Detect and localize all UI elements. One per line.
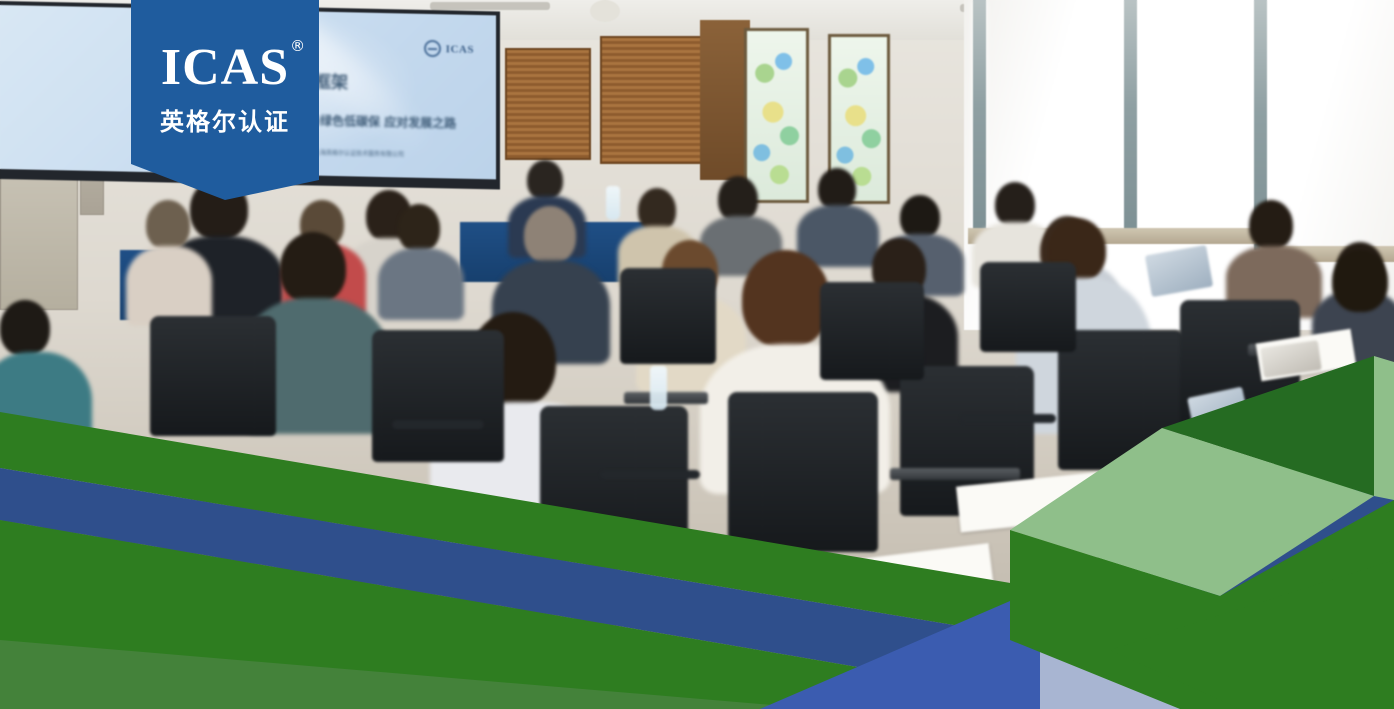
icas-wordmark: ICAS® <box>161 42 289 94</box>
banner-canvas: EXIT 框架 核算与绿色低碳保 应对发展之路 上海英格尔认证技术服务有限公司 … <box>0 0 1394 709</box>
registered-trademark-icon: ® <box>290 39 306 54</box>
icas-logo-panel: ICAS® 英格尔认证 <box>131 0 319 200</box>
icas-chinese-name: 英格尔认证 <box>160 102 290 137</box>
icas-wordmark-text: ICAS <box>161 39 289 96</box>
